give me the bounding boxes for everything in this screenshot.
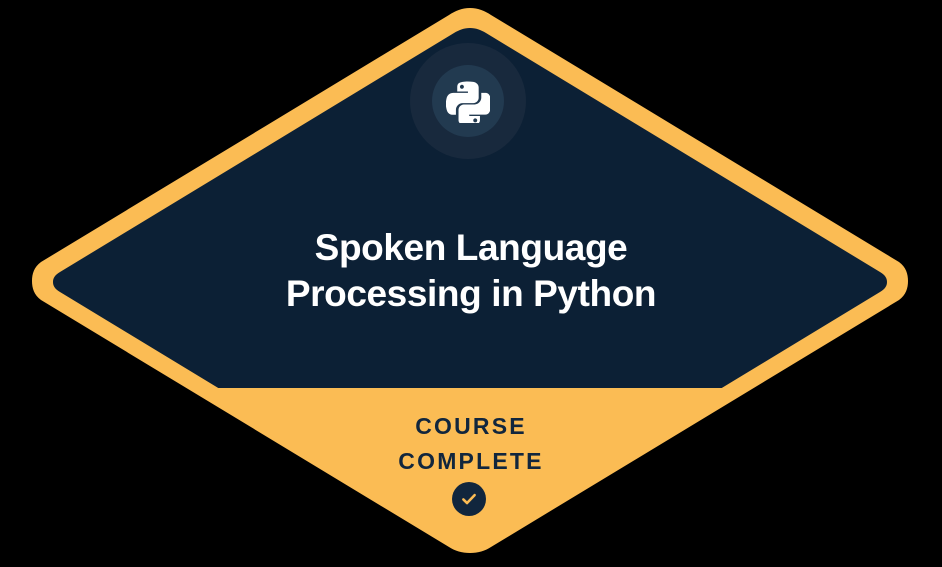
logo-ring-decoration: [410, 43, 526, 159]
logo-ring-inner: [432, 65, 504, 137]
course-completion-badge: Spoken Language Processing in Python COU…: [0, 0, 942, 567]
badge-diamond-shape: [0, 0, 942, 567]
